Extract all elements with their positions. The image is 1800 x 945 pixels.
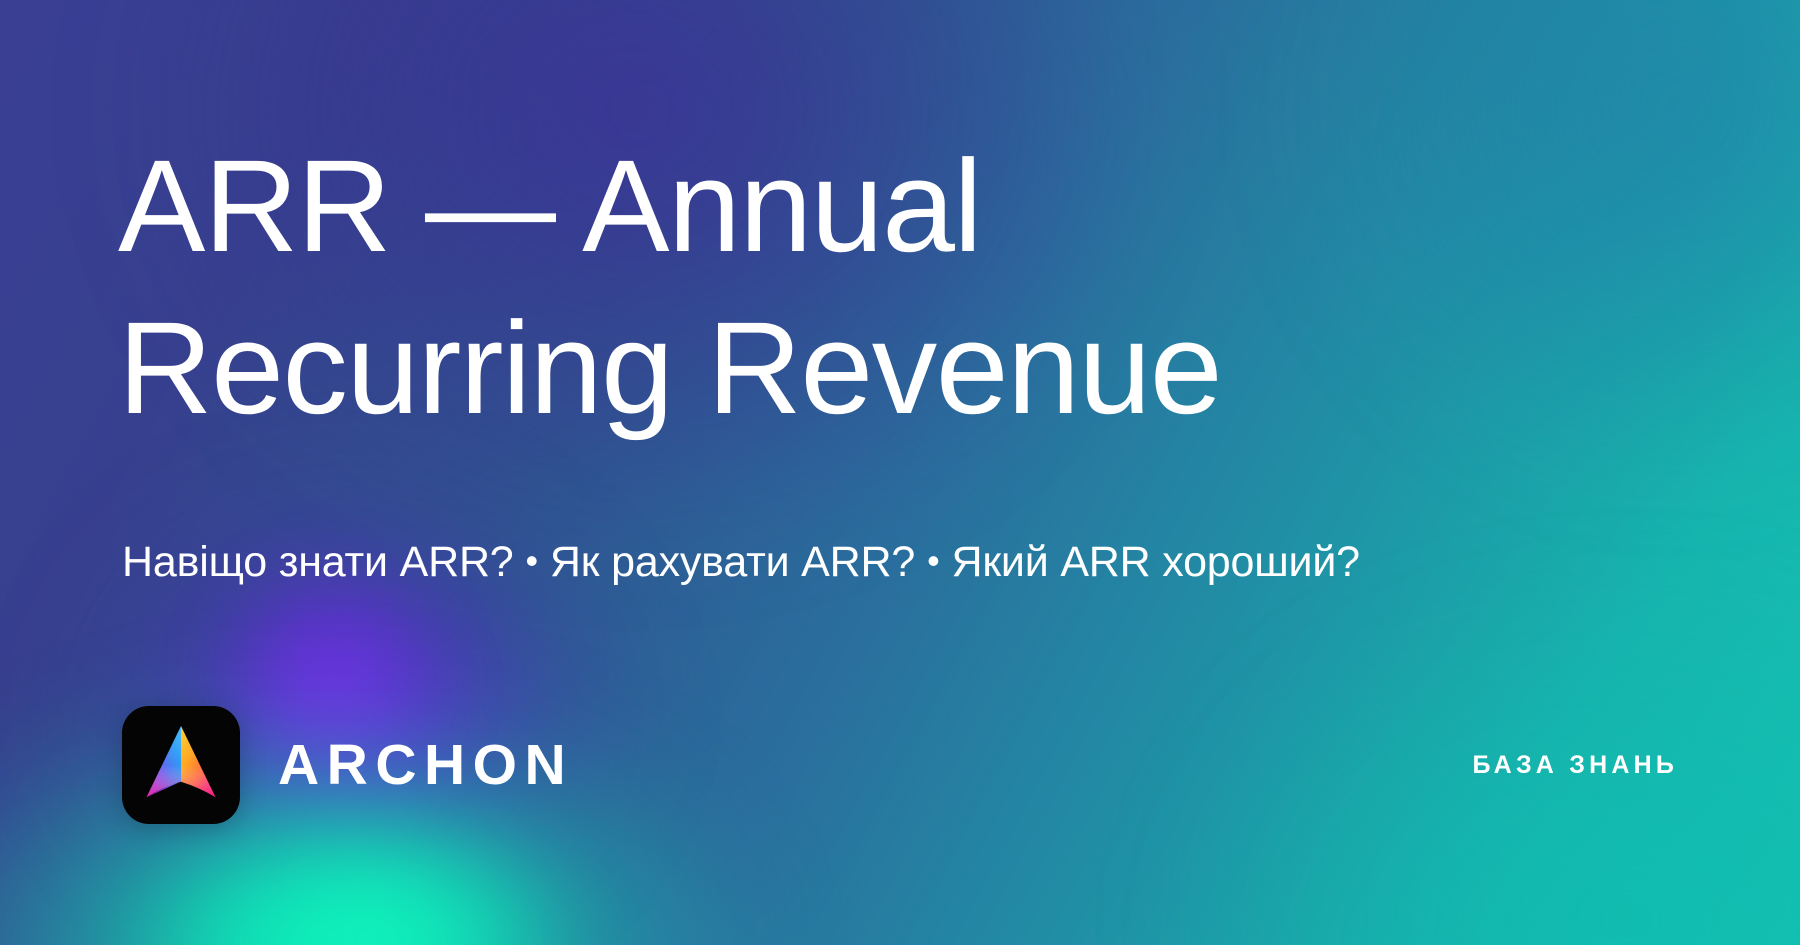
- subtitle-separator-2: •: [915, 538, 951, 583]
- subtitle-part-2: Як рахувати ARR?: [550, 538, 915, 586]
- brand-lockup: ARCHON: [122, 706, 573, 824]
- subtitle: Навіщо знати ARR?•Як рахувати ARR?•Який …: [122, 536, 1360, 590]
- page-title: ARR — Annual Recurring Revenue: [118, 125, 1221, 450]
- subtitle-part-3: Який ARR хороший?: [951, 538, 1359, 586]
- archon-logo-tile: [122, 706, 240, 824]
- banner-content: ARR — Annual Recurring Revenue Навіщо зн…: [0, 0, 1800, 945]
- archon-arrow-icon: [137, 723, 225, 807]
- subtitle-separator-1: •: [514, 538, 550, 583]
- category-label: БАЗА ЗНАНЬ: [1472, 753, 1678, 778]
- brand-wordmark: ARCHON: [278, 737, 573, 794]
- banner-footer: ARCHON БАЗА ЗНАНЬ: [122, 705, 1678, 825]
- subtitle-part-1: Навіщо знати ARR?: [122, 538, 514, 586]
- knowledge-base-banner: ARR — Annual Recurring Revenue Навіщо зн…: [0, 0, 1800, 945]
